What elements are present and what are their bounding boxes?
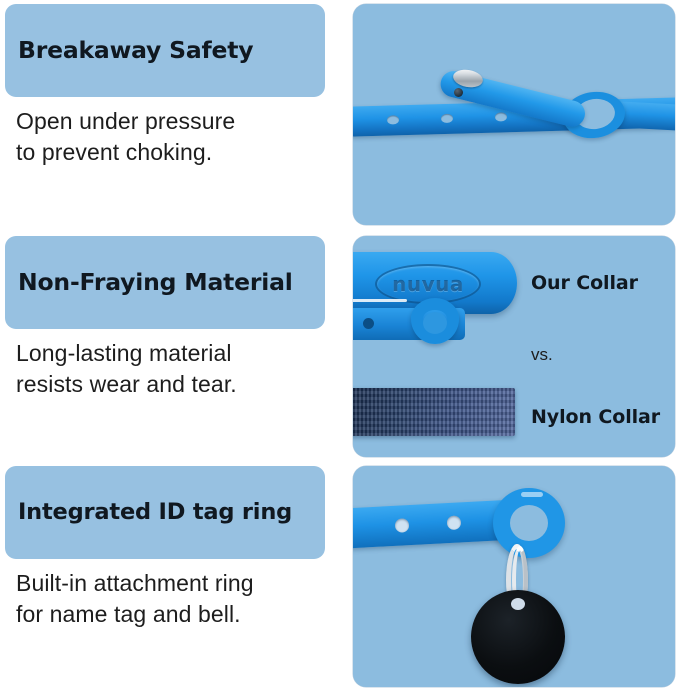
headline-badge: Non-Fraying Material xyxy=(5,236,325,329)
description-line-1: Open under pressure xyxy=(16,106,336,137)
headline-badge: Integrated ID tag ring xyxy=(5,466,325,559)
feature-description: Long-lasting material resists wear and t… xyxy=(16,338,336,399)
metal-rivet-pin-icon xyxy=(454,88,463,97)
brand-logo-text: nuvua xyxy=(392,272,464,296)
breakaway-buckle-photo xyxy=(353,4,675,225)
headline-label: Integrated ID tag ring xyxy=(18,500,292,525)
description-line-2: resists wear and tear. xyxy=(16,369,336,400)
our-collar-label: Our Collar xyxy=(531,272,638,294)
collar-strap xyxy=(353,500,514,549)
feature-text-column: Breakaway Safety Open under pressure to … xyxy=(5,2,327,227)
integrated-silicone-ring xyxy=(493,488,565,558)
headline-badge: Breakaway Safety xyxy=(5,4,325,97)
headline-label: Breakaway Safety xyxy=(18,38,253,64)
feature-row-non-fraying-material: Non-Fraying Material Long-lasting materi… xyxy=(0,234,679,459)
headline-label: Non-Fraying Material xyxy=(18,270,293,296)
silicone-ring-highlight xyxy=(521,492,543,497)
description-line-2: for name tag and bell. xyxy=(16,599,336,630)
nylon-collar-strap xyxy=(353,388,515,436)
silicone-collar-highlight xyxy=(353,299,407,302)
id-tag-ring-photo xyxy=(353,466,675,687)
feature-text-column: Non-Fraying Material Long-lasting materi… xyxy=(5,234,327,459)
feature-description: Open under pressure to prevent choking. xyxy=(16,106,336,167)
id-tag-hole xyxy=(511,598,525,610)
feature-row-integrated-id-tag-ring: Integrated ID tag ring Built-in attachme… xyxy=(0,464,679,689)
product-feature-infographic: Breakaway Safety Open under pressure to … xyxy=(0,0,679,689)
nylon-collar-label: Nylon Collar xyxy=(531,406,660,428)
description-line-1: Long-lasting material xyxy=(16,338,336,369)
versus-label: vs. xyxy=(531,345,553,365)
feature-row-breakaway-safety: Breakaway Safety Open under pressure to … xyxy=(0,2,679,227)
material-comparison-photo: nuvua Our Collar vs. Nylon Collar xyxy=(353,236,675,457)
feature-description: Built-in attachment ring for name tag an… xyxy=(16,568,336,629)
feature-text-column: Integrated ID tag ring Built-in attachme… xyxy=(5,464,327,689)
description-line-2: to prevent choking. xyxy=(16,137,336,168)
silicone-collar-keeper-opening xyxy=(423,312,447,334)
description-line-1: Built-in attachment ring xyxy=(16,568,336,599)
